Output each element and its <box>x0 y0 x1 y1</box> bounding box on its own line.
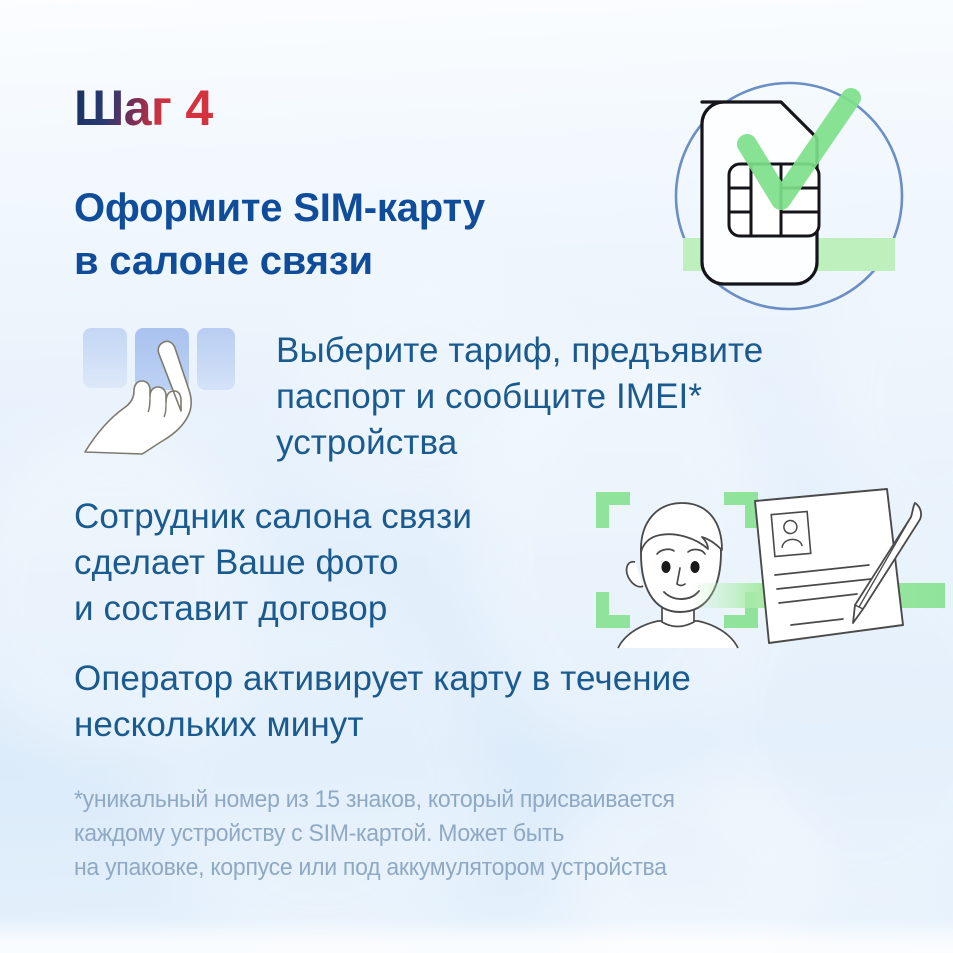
paragraph-employee-photo: Сотрудник салона связи сделает Ваше фото… <box>74 494 472 633</box>
paragraph3-line-1: Оператор активирует карту в течение <box>74 656 691 702</box>
footnote-line-2: каждому устройству с SIM-картой. Может б… <box>74 817 675 851</box>
paragraph1-line-2: паспорт и сообщите IMEI* <box>276 374 763 420</box>
paragraph2-line-3: и составит договор <box>74 586 472 632</box>
paragraph3-line-2: нескольких минут <box>74 702 691 748</box>
paragraph1-line-1: Выберите тариф, предъявите <box>276 328 763 374</box>
paragraph-operator-activation: Оператор активирует карту в течение неск… <box>74 656 691 748</box>
face-scan-icon <box>592 488 762 648</box>
hand-pointing-icon <box>80 322 250 454</box>
paragraph2-line-2: сделает Ваше фото <box>74 540 472 586</box>
background-watermark <box>150 600 490 953</box>
page-title: Оформите SIM-карту в салоне связи <box>74 182 485 288</box>
sim-card-check-icon <box>655 78 923 324</box>
contract-pen-icon <box>745 485 945 653</box>
step-title: Шаг4 <box>74 83 213 133</box>
headline-line-2: в салоне связи <box>74 235 485 288</box>
paragraph1-line-3: устройства <box>276 420 763 466</box>
step-number: 4 <box>185 80 212 136</box>
poster-canvas: Шаг4 Оформите SIM-карту в салоне связи <box>0 0 953 953</box>
paragraph-select-tariff: Выберите тариф, предъявите паспорт и соо… <box>276 328 763 467</box>
footnote-line-3: на упаковке, корпусе или под аккумулятор… <box>74 851 675 885</box>
headline-line-1: Оформите SIM-карту <box>74 182 485 235</box>
paragraph2-line-1: Сотрудник салона связи <box>74 494 472 540</box>
footnote: *уникальный номер из 15 знаков, который … <box>74 783 675 885</box>
step-label: Шаг <box>74 80 171 136</box>
footnote-line-1: *уникальный номер из 15 знаков, который … <box>74 783 675 817</box>
background-bottom-fade <box>0 919 953 953</box>
